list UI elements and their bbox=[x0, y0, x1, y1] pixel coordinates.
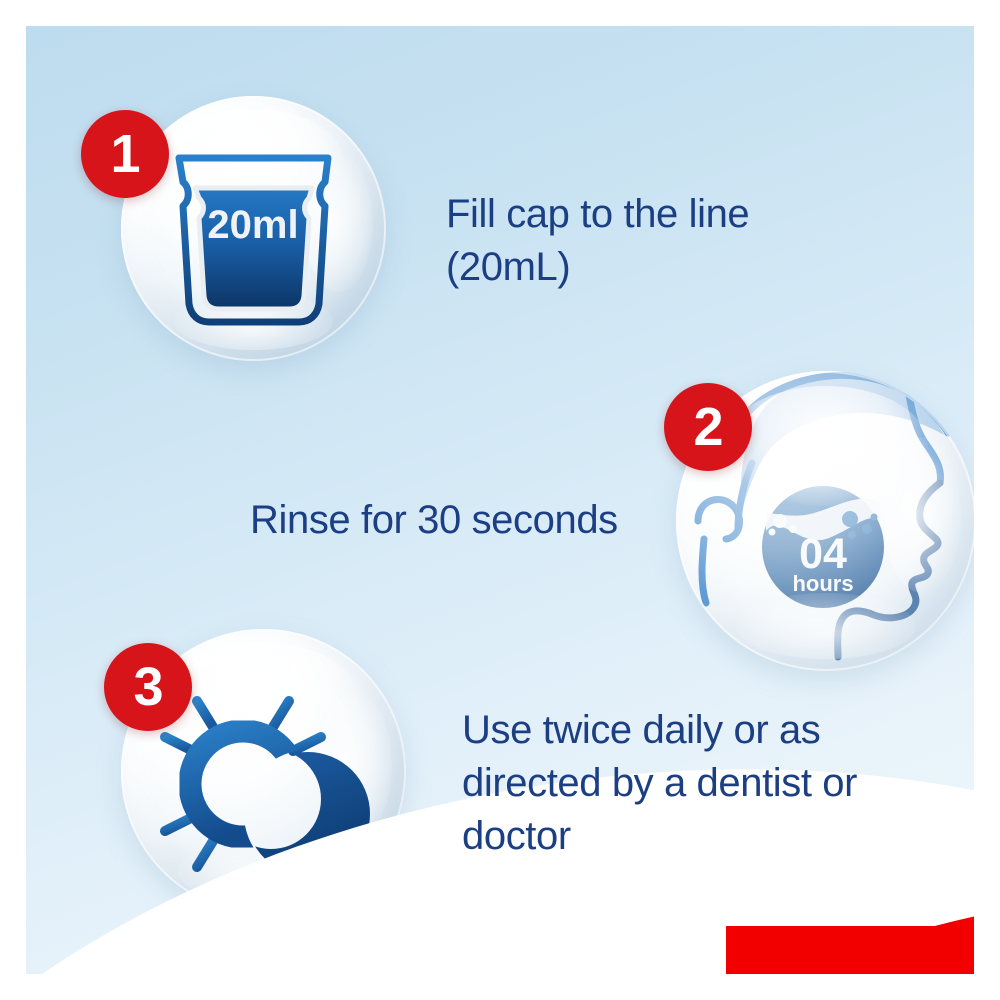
hours-badge-icon: 04 hours bbox=[762, 486, 884, 608]
step-2-number-badge: 2 bbox=[664, 383, 752, 471]
bubble-gloss-bottom-icon bbox=[174, 292, 333, 350]
step-3-caption: Use twice daily or as directed by a dent… bbox=[462, 704, 892, 862]
bubble-gloss-top-icon bbox=[163, 109, 343, 215]
bubble-gloss-top-icon bbox=[167, 643, 361, 757]
cup-volume-label: 20ml bbox=[207, 203, 298, 247]
bubble-gloss-top-icon bbox=[724, 386, 928, 506]
bubble-gloss-right-icon bbox=[318, 692, 392, 840]
bubble-gloss-bottom-icon bbox=[736, 593, 916, 659]
step-2-caption: Rinse for 30 seconds bbox=[250, 494, 670, 547]
step-3-number-badge: 3 bbox=[104, 643, 192, 731]
bubble-gloss-right-icon bbox=[883, 437, 961, 593]
hours-badge-unit: hours bbox=[792, 571, 853, 596]
step-1-number-badge: 1 bbox=[81, 110, 169, 198]
step-1-caption: Fill cap to the line (20mL) bbox=[446, 188, 776, 294]
bubble-gloss-right-icon bbox=[304, 154, 373, 292]
sun-ring-icon bbox=[190, 731, 296, 837]
infographic-canvas: 20ml 1 Fill cap to the line (20mL) bbox=[0, 0, 1000, 1000]
background-panel: 20ml 1 Fill cap to the line (20mL) bbox=[26, 26, 974, 974]
hours-badge-value: 04 bbox=[799, 530, 847, 578]
red-swoosh-corner-fill bbox=[726, 926, 974, 974]
